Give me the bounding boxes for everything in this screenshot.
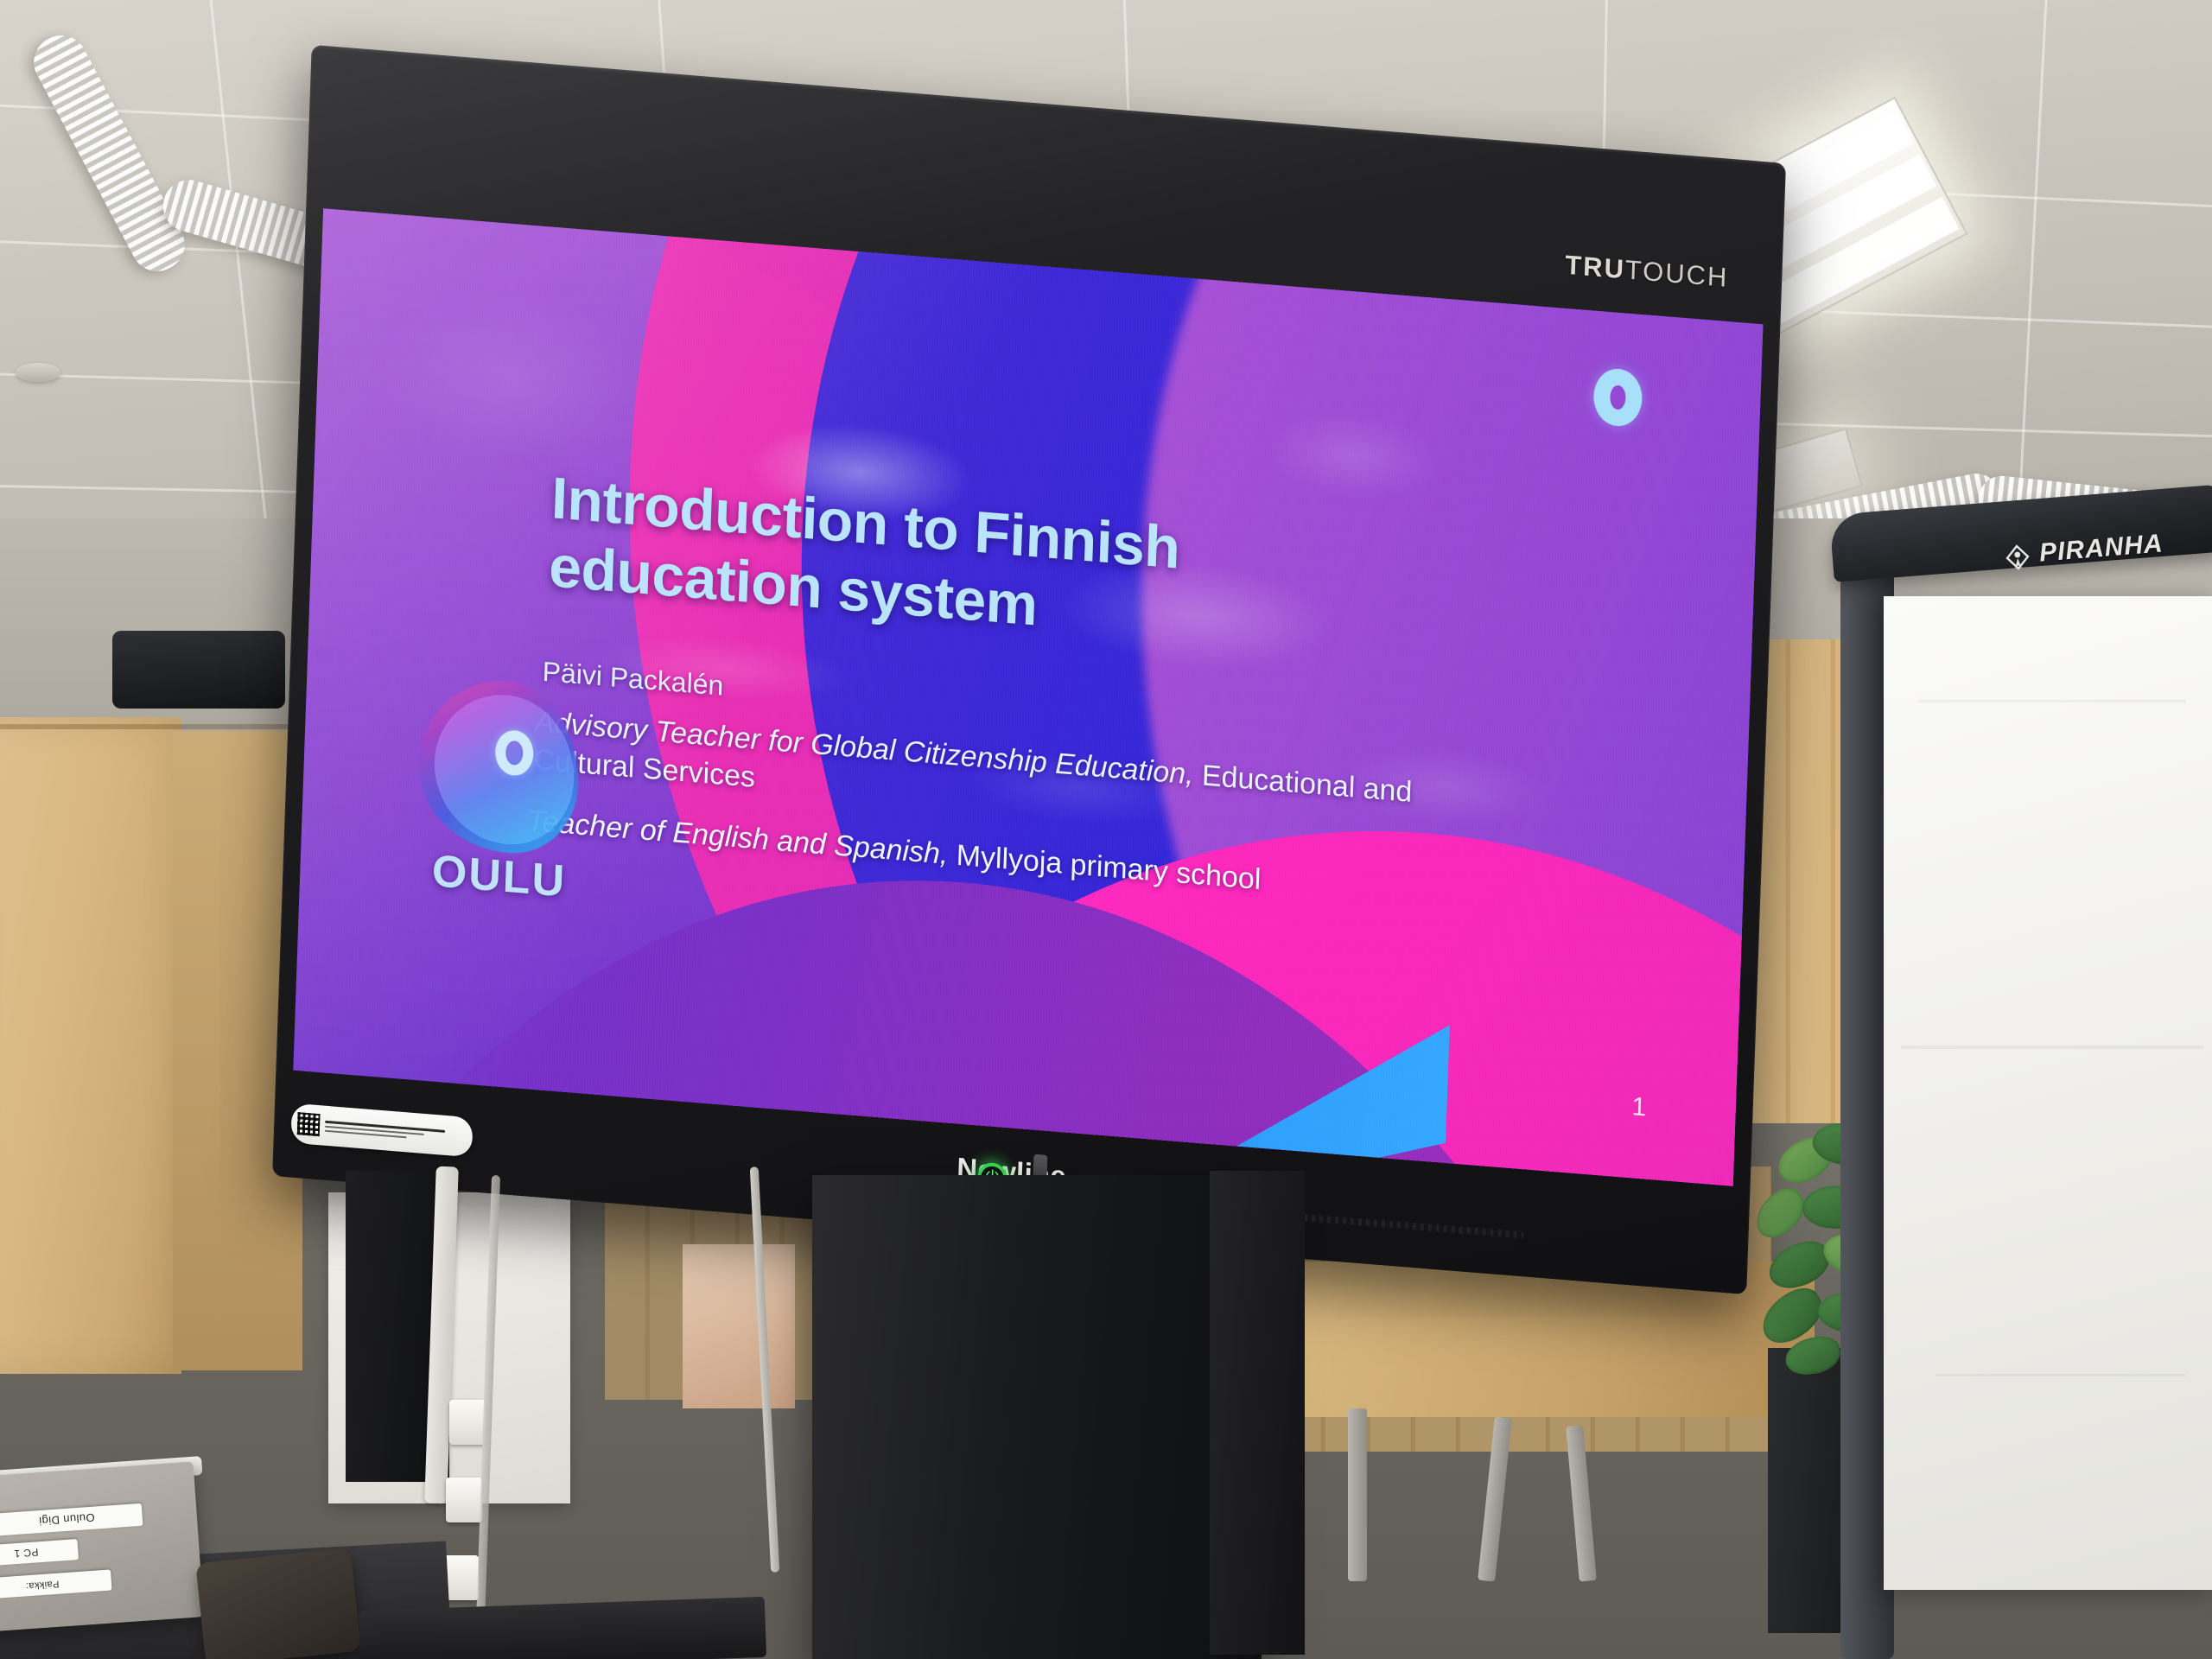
laptop-asset-label-3: Paikka: <box>0 1569 112 1599</box>
sticker-text-lines <box>325 1120 467 1142</box>
cable-tag <box>446 1478 482 1522</box>
cabinet-edge <box>0 724 302 729</box>
cable-tag <box>449 1400 486 1445</box>
wall-poster <box>683 1244 795 1408</box>
oulu-blob-logo: OULU <box>408 674 596 905</box>
projector-mount <box>112 631 285 709</box>
presentation-slide[interactable]: Introduction to Finnish education system… <box>293 208 1763 1185</box>
laptop-device[interactable]: Oulun Digi PC 1 Paikka: <box>0 1461 204 1631</box>
interactive-display[interactable]: TRUTOUCH <box>272 45 1786 1294</box>
table-leg <box>1348 1408 1367 1581</box>
brand-bold: TRU <box>1565 250 1626 285</box>
qr-code-icon <box>297 1112 321 1136</box>
display-stand-column-right <box>1210 1171 1305 1655</box>
room-scene: PIRANHA TRUTOUCH <box>0 0 2212 1659</box>
display-stand-column <box>812 1175 1262 1659</box>
smoke-detector-icon <box>16 363 60 382</box>
flipchart-paper <box>1884 596 2212 1590</box>
piranha-logo-icon <box>2002 542 2034 574</box>
wooden-cabinet <box>0 717 181 1374</box>
slide-page-number: 1 <box>1631 1092 1647 1122</box>
laptop-asset-label-2: PC 1 <box>0 1539 79 1567</box>
laptop-asset-label-1: Oulun Digi <box>0 1503 143 1536</box>
display-screen-area[interactable]: Introduction to Finnish education system… <box>293 208 1763 1185</box>
mobile-phone[interactable] <box>195 1548 361 1659</box>
